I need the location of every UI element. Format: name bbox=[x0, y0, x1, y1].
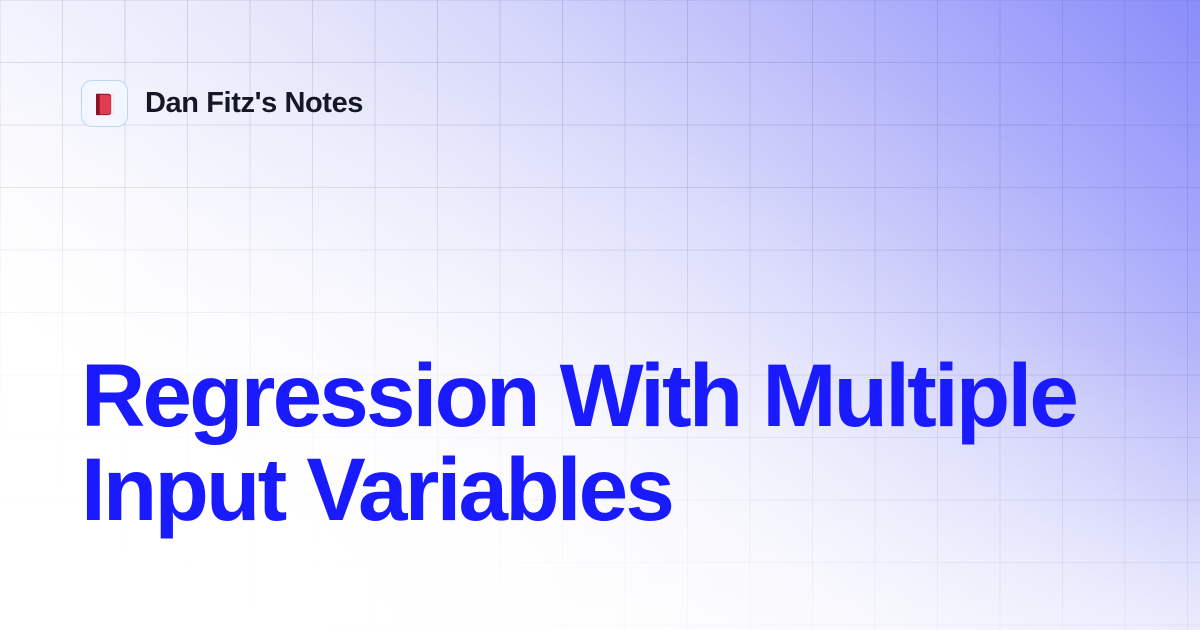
card-content: Dan Fitz's Notes Regression With Multipl… bbox=[0, 0, 1200, 630]
page-title: Regression With Multiple Input Variables bbox=[81, 348, 1131, 537]
brand-icon-container bbox=[81, 80, 128, 127]
brand: Dan Fitz's Notes bbox=[81, 80, 363, 127]
closed-book-icon bbox=[90, 89, 120, 119]
brand-title: Dan Fitz's Notes bbox=[145, 89, 363, 118]
og-card: Dan Fitz's Notes Regression With Multipl… bbox=[0, 0, 1200, 630]
